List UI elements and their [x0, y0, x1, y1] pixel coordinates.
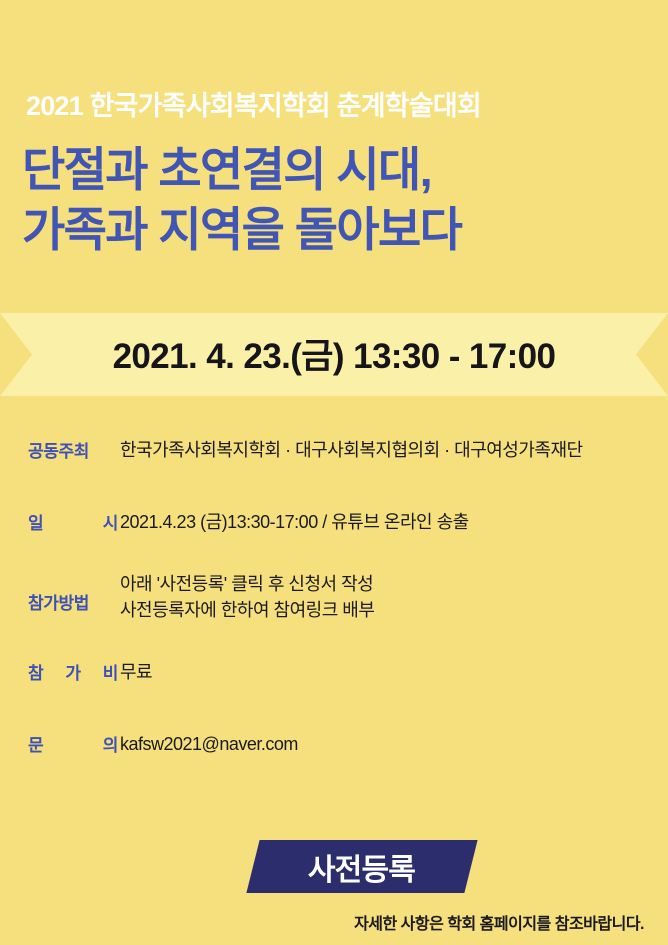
detail-value-fee: 무료 — [120, 659, 658, 685]
detail-value-datetime-line-1: 2021.4.23 (금)13:30-17:00 / 유튜브 온라인 송출 — [120, 509, 658, 535]
detail-value-host: 한국가족사회복지학회 · 대구사회복지협의회 · 대구여성가족재단 — [120, 437, 658, 463]
detail-row-contact: 문 의 kafsw2021@naver.com — [28, 731, 658, 757]
detail-label-fee: 참 가 비 — [28, 659, 120, 684]
footer-note: 자세한 사항은 학회 홈페이지를 참조바랍니다. — [354, 910, 644, 934]
page-title: 단절과 초연결의 시대, 가족과 지역을 돌아보다 — [22, 140, 642, 260]
detail-row-howto: 참가방법 아래 '사전등록' 클릭 후 신청서 작성 사전등록자에 한하여 참여… — [28, 571, 658, 623]
detail-label-fee-char-2: 가 — [65, 659, 80, 684]
detail-value-howto-line-1: 아래 '사전등록' 클릭 후 신청서 작성 — [120, 571, 658, 597]
event-kicker: 2021 한국가족사회복지학회 춘계학술대회 — [26, 92, 481, 122]
detail-label-contact-char-1: 문 — [28, 731, 43, 756]
date-ribbon: 2021. 4. 23.(금) 13:30 - 17:00 — [0, 313, 668, 396]
pre-registration-button[interactable]: 사전등록 — [246, 840, 477, 893]
detail-label-host: 공동주최 — [28, 437, 120, 462]
detail-label-datetime-char-2: 시 — [103, 509, 118, 534]
detail-value-fee-line-1: 무료 — [120, 659, 658, 685]
headline-line-1: 단절과 초연결의 시대, — [22, 140, 642, 200]
detail-label-contact: 문 의 — [28, 731, 120, 756]
detail-value-howto: 아래 '사전등록' 클릭 후 신청서 작성 사전등록자에 한하여 참여링크 배부 — [120, 571, 658, 623]
detail-value-datetime: 2021.4.23 (금)13:30-17:00 / 유튜브 온라인 송출 — [120, 509, 658, 535]
detail-label-contact-char-2: 의 — [103, 731, 118, 756]
conference-poster: 2021 한국가족사회복지학회 춘계학술대회 단절과 초연결의 시대, 가족과 … — [0, 0, 668, 945]
detail-label-datetime: 일 시 — [28, 509, 120, 534]
headline-line-2: 가족과 지역을 돌아보다 — [22, 200, 642, 260]
detail-row-host: 공동주최 한국가족사회복지학회 · 대구사회복지협의회 · 대구여성가족재단 — [28, 437, 658, 463]
detail-row-datetime: 일 시 2021.4.23 (금)13:30-17:00 / 유튜브 온라인 송… — [28, 509, 658, 535]
detail-row-fee: 참 가 비 무료 — [28, 659, 658, 685]
detail-label-howto: 참가방법 — [28, 571, 120, 614]
detail-label-datetime-char-1: 일 — [28, 509, 43, 534]
detail-label-fee-char-3: 비 — [103, 659, 118, 684]
detail-value-host-line-1: 한국가족사회복지학회 · 대구사회복지협의회 · 대구여성가족재단 — [120, 437, 658, 463]
detail-value-contact: kafsw2021@naver.com — [120, 731, 658, 757]
detail-label-fee-char-1: 참 — [28, 659, 43, 684]
detail-value-howto-line-2: 사전등록자에 한하여 참여링크 배부 — [120, 597, 658, 623]
contact-email: kafsw2021@naver.com — [120, 731, 658, 757]
pre-registration-button-label: 사전등록 — [308, 845, 415, 889]
register-button-area: 사전등록 — [0, 840, 668, 893]
date-ribbon-text: 2021. 4. 23.(금) 13:30 - 17:00 — [113, 328, 556, 379]
